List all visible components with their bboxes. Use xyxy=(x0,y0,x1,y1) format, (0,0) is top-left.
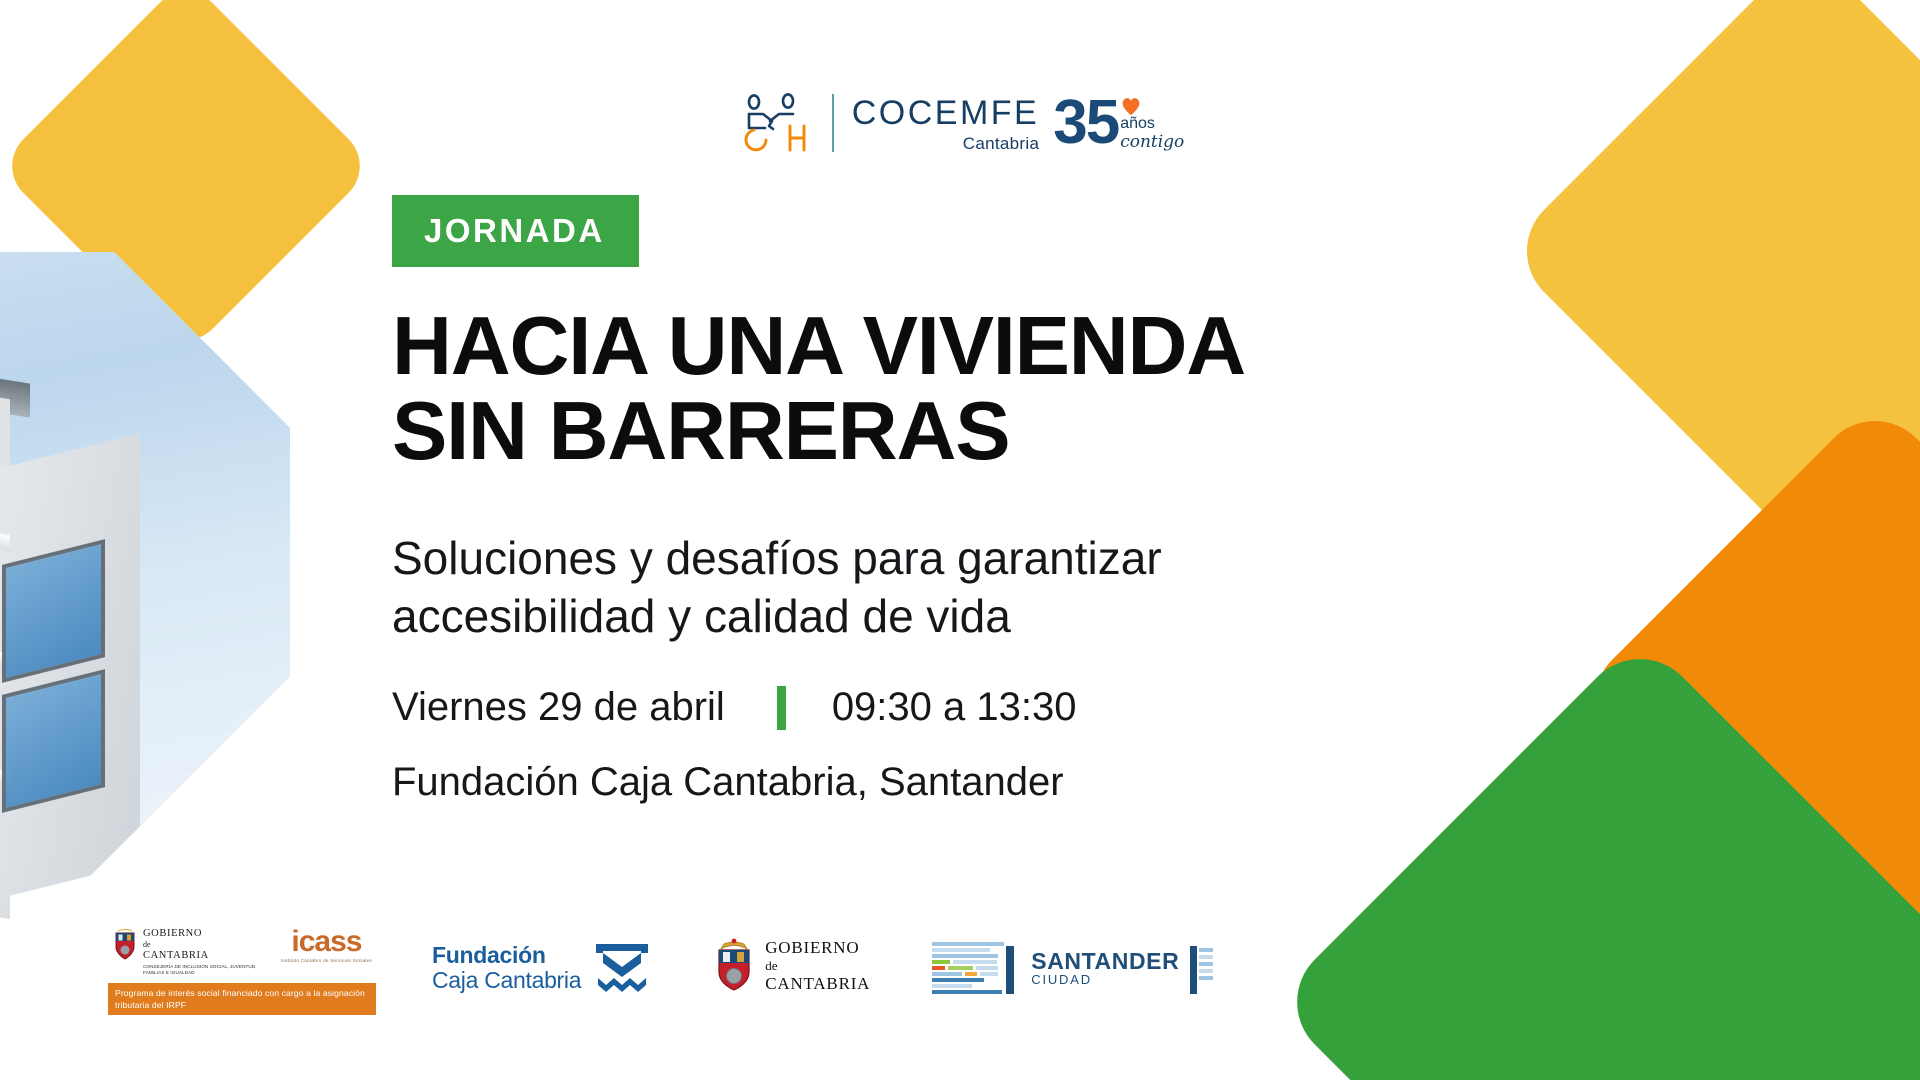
subtitle-line-1: Soluciones y desafíos para garantizar xyxy=(392,530,1512,588)
santander-bars-right-icon xyxy=(1188,940,1214,996)
icass-wordmark: icass xyxy=(291,928,361,955)
event-venue: Fundación Caja Cantabria, Santander xyxy=(392,760,1512,805)
anniversary-badge: 35 años contigo xyxy=(1053,94,1184,153)
logo-irpf-program: GOBIERNO de CANTABRIA CONSEJERÍA DE INCL… xyxy=(108,928,376,1015)
logo-santander-ciudad: SANTANDER CIUDAD xyxy=(930,940,1214,996)
cantabria-coat-of-arms-icon xyxy=(112,928,138,962)
logo-gobierno-de-cantabria: GOBIERNO de CANTABRIA xyxy=(712,938,870,994)
event-datetime: Viernes 29 de abril 09:30 a 13:30 xyxy=(392,685,1512,730)
page-title: HACIA UNA VIVIENDA SIN BARRERAS xyxy=(392,303,1512,474)
header-logo-bar: COCEMFE Cantabria 35 años contigo xyxy=(0,92,1920,154)
footer-logo-strip: GOBIERNO de CANTABRIA CONSEJERÍA DE INCL… xyxy=(108,928,1214,1015)
two-people-wheelchair-handshake-icon xyxy=(736,92,814,154)
event-date: Viernes 29 de abril xyxy=(392,685,725,730)
icass-subtitle: Instituto Cántabro de Servicios Sociales xyxy=(281,958,372,963)
event-subtitle: Soluciones y desafíos para garantizar ac… xyxy=(392,530,1512,646)
mountain-wave-mark-icon xyxy=(594,942,650,994)
headline-line-1: HACIA UNA VIVIENDA xyxy=(392,303,1512,388)
gobierno-consejeria-line1: GOBIERNO xyxy=(143,928,258,940)
anniversary-years: años xyxy=(1120,116,1155,133)
cantabria-coat-of-arms-icon xyxy=(712,938,756,994)
gobierno-line-3: CANTABRIA xyxy=(765,974,870,994)
gobierno-line-1: GOBIERNO xyxy=(765,938,870,958)
event-content: JORNADA HACIA UNA VIVIENDA SIN BARRERAS … xyxy=(392,195,1512,805)
subtitle-line-2: accesibilidad y calidad de vida xyxy=(392,588,1512,646)
santander-line-2: CIUDAD xyxy=(1031,973,1179,987)
anniversary-tagline: contigo xyxy=(1120,132,1184,152)
cocemfe-wordmark: COCEMFE Cantabria 35 años contigo xyxy=(852,94,1185,153)
heart-icon xyxy=(1120,96,1142,116)
datetime-separator-bar xyxy=(777,686,786,730)
logo-gobierno-consejeria: GOBIERNO de CANTABRIA CONSEJERÍA DE INCL… xyxy=(112,928,258,977)
consejeria-subtitle: CONSEJERÍA DE INCLUSIÓN SOCIAL, JUVENTUD… xyxy=(143,964,258,976)
event-poster: COCEMFE Cantabria 35 años contigo JORN xyxy=(0,0,1920,1080)
santander-line-1: SANTANDER xyxy=(1031,949,1179,973)
headline-line-2: SIN BARRERAS xyxy=(392,388,1512,473)
jornada-badge: JORNADA xyxy=(392,195,639,267)
cocemfe-region: Cantabria xyxy=(963,135,1039,152)
logo-divider xyxy=(832,94,834,152)
event-time: 09:30 a 13:30 xyxy=(832,685,1077,730)
gobierno-line-2: de xyxy=(765,958,870,974)
logo-icass: icass Instituto Cántabro de Servicios So… xyxy=(281,928,372,963)
cocemfe-name: COCEMFE xyxy=(852,96,1040,130)
gobierno-consejeria-line2: de xyxy=(143,940,258,949)
cocemfe-logo: COCEMFE Cantabria 35 años contigo xyxy=(736,92,1185,154)
logo-fundacion-caja-cantabria: Fundación Caja Cantabria xyxy=(432,942,650,994)
santander-bars-mark-icon xyxy=(930,940,1022,996)
anniversary-number: 35 xyxy=(1053,94,1118,151)
irpf-funding-banner: Programa de interés social financiado co… xyxy=(108,983,376,1016)
fundacion-line-2: Caja Cantabria xyxy=(432,968,581,993)
gobierno-consejeria-line3: CANTABRIA xyxy=(143,950,258,962)
fundacion-line-1: Fundación xyxy=(432,943,581,968)
